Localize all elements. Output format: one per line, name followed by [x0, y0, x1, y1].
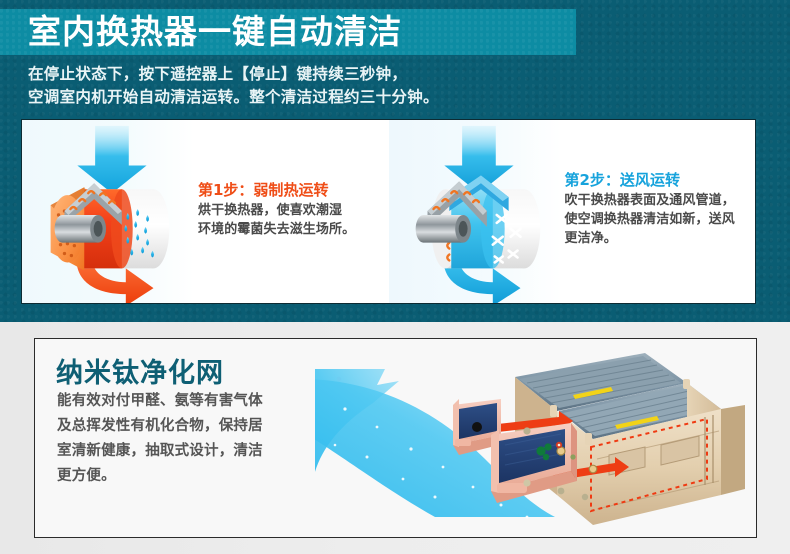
filter-panel: 纳米钛净化网 能有效对付甲醛、氨等有害气体 及总挥发性有机化合物，保持居 室清新…	[34, 338, 757, 538]
heat-exchanger-fan-icon	[389, 120, 561, 303]
header-subtitle: 在停止状态下，按下遥控器上【停止】键持续三秒钟， 空调室内机开始自动清洁运转。整…	[28, 63, 748, 109]
step-1-body-line-2: 环境的霉菌失去滋生场所。	[198, 220, 383, 239]
step-2-body-line-1: 吹干换热器表面及通风管道，	[565, 191, 750, 210]
step-1-body-line-1: 烘干换热器，使喜欢潮湿	[198, 201, 383, 220]
step-1-text: 第1步：弱制热运转 烘干换热器，使喜欢潮湿 环境的霉菌失去滋生场所。	[194, 179, 389, 245]
filter-body-line-2: 及总挥发性有机化合物，保持居	[57, 414, 317, 439]
heat-exchanger-warm-icon	[22, 120, 194, 303]
promo-page: 室内换热器一键自动清洁 在停止状态下，按下遥控器上【停止】键持续三秒钟， 空调室…	[0, 0, 790, 554]
step-2: 第2步：送风运转 吹干换热器表面及通风管道， 使空调换热器清洁如新，送风 更洁净…	[389, 120, 756, 303]
step-1: 第1步：弱制热运转 烘干换热器，使喜欢潮湿 环境的霉菌失去滋生场所。	[22, 120, 389, 303]
filter-artwork	[315, 339, 757, 538]
step-2-body: 吹干换热器表面及通风管道， 使空调换热器清洁如新，送风 更洁净。	[565, 191, 750, 248]
filter-body: 能有效对付甲醛、氨等有害气体 及总挥发性有机化合物，保持居 室清新健康，抽取式设…	[57, 389, 317, 489]
air-conditioner-filter-exploded-icon	[315, 339, 757, 538]
filter-body-line-4: 更方便。	[57, 464, 317, 489]
step-1-body: 烘干换热器，使喜欢潮湿 环境的霉菌失去滋生场所。	[198, 201, 383, 239]
step-2-artwork	[389, 120, 561, 303]
step-2-body-line-2: 使空调换热器清洁如新，送风	[565, 210, 750, 229]
step-1-artwork	[22, 120, 194, 303]
filter-title: 纳米钛净化网	[56, 351, 224, 390]
page-title: 室内换热器一键自动清洁	[28, 11, 588, 53]
step-1-heading: 第1步：弱制热运转	[198, 179, 383, 201]
filter-body-line-1: 能有效对付甲醛、氨等有害气体	[57, 389, 317, 414]
step-2-body-line-3: 更洁净。	[565, 229, 750, 248]
steps-panel: 第1步：弱制热运转 烘干换热器，使喜欢潮湿 环境的霉菌失去滋生场所。	[21, 119, 756, 304]
filter-body-line-3: 室清新健康，抽取式设计，清洁	[57, 439, 317, 464]
step-2-text: 第2步：送风运转 吹干换热器表面及通风管道， 使空调换热器清洁如新，送风 更洁净…	[561, 169, 756, 254]
subtitle-line-2: 空调室内机开始自动清洁运转。整个清洁过程约三十分钟。	[28, 86, 748, 109]
top-teal-section: 室内换热器一键自动清洁 在停止状态下，按下遥控器上【停止】键持续三秒钟， 空调室…	[0, 0, 790, 322]
subtitle-line-1: 在停止状态下，按下遥控器上【停止】键持续三秒钟，	[28, 63, 748, 86]
step-2-heading: 第2步：送风运转	[565, 169, 750, 191]
